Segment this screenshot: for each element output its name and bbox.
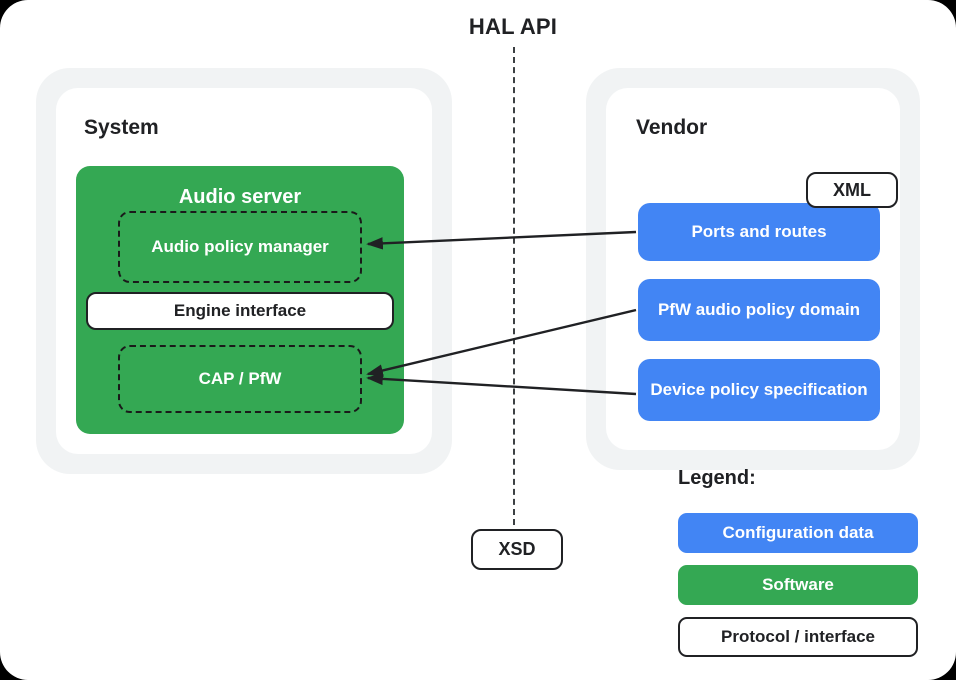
device-policy-specification-label: Device policy specification (650, 379, 867, 400)
engine-interface-box: Engine interface (86, 292, 394, 330)
legend-title: Legend: (678, 467, 756, 490)
diagram-canvas: HAL API Audio server Audio policy manage… (0, 0, 956, 680)
audio-policy-manager-label: Audio policy manager (151, 237, 329, 257)
legend-item-protocol-interface: Protocol / interface (678, 617, 918, 657)
cap-pfw-box: CAP / PfW (118, 345, 362, 413)
audio-server-box: Audio server Audio policy manager Engine… (76, 166, 404, 434)
system-title: System (84, 116, 159, 140)
audio-policy-manager-box: Audio policy manager (118, 211, 362, 283)
legend-item-software: Software (678, 565, 918, 605)
pfw-audio-policy-domain-label: PfW audio policy domain (658, 299, 860, 320)
ports-and-routes-label: Ports and routes (691, 221, 826, 242)
xsd-badge-label: XSD (498, 539, 535, 560)
hal-api-divider (513, 47, 515, 525)
xml-badge-label: XML (833, 180, 871, 201)
device-policy-specification-box: Device policy specification (638, 359, 880, 421)
legend-item-label: Configuration data (722, 523, 873, 543)
legend-item-configuration-data: Configuration data (678, 513, 918, 553)
legend-item-label: Protocol / interface (721, 627, 875, 647)
cap-pfw-label: CAP / PfW (199, 369, 282, 389)
engine-interface-label: Engine interface (174, 301, 306, 321)
system-panel: Audio server Audio policy manager Engine… (56, 88, 432, 454)
legend-item-label: Software (762, 575, 834, 595)
pfw-audio-policy-domain-box: PfW audio policy domain (638, 279, 880, 341)
ports-and-routes-box: Ports and routes (638, 203, 880, 261)
xsd-badge: XSD (471, 529, 563, 570)
xml-badge: XML (806, 172, 898, 208)
page-title: HAL API (0, 14, 956, 40)
vendor-title: Vendor (636, 116, 707, 140)
audio-server-label: Audio server (76, 186, 404, 209)
